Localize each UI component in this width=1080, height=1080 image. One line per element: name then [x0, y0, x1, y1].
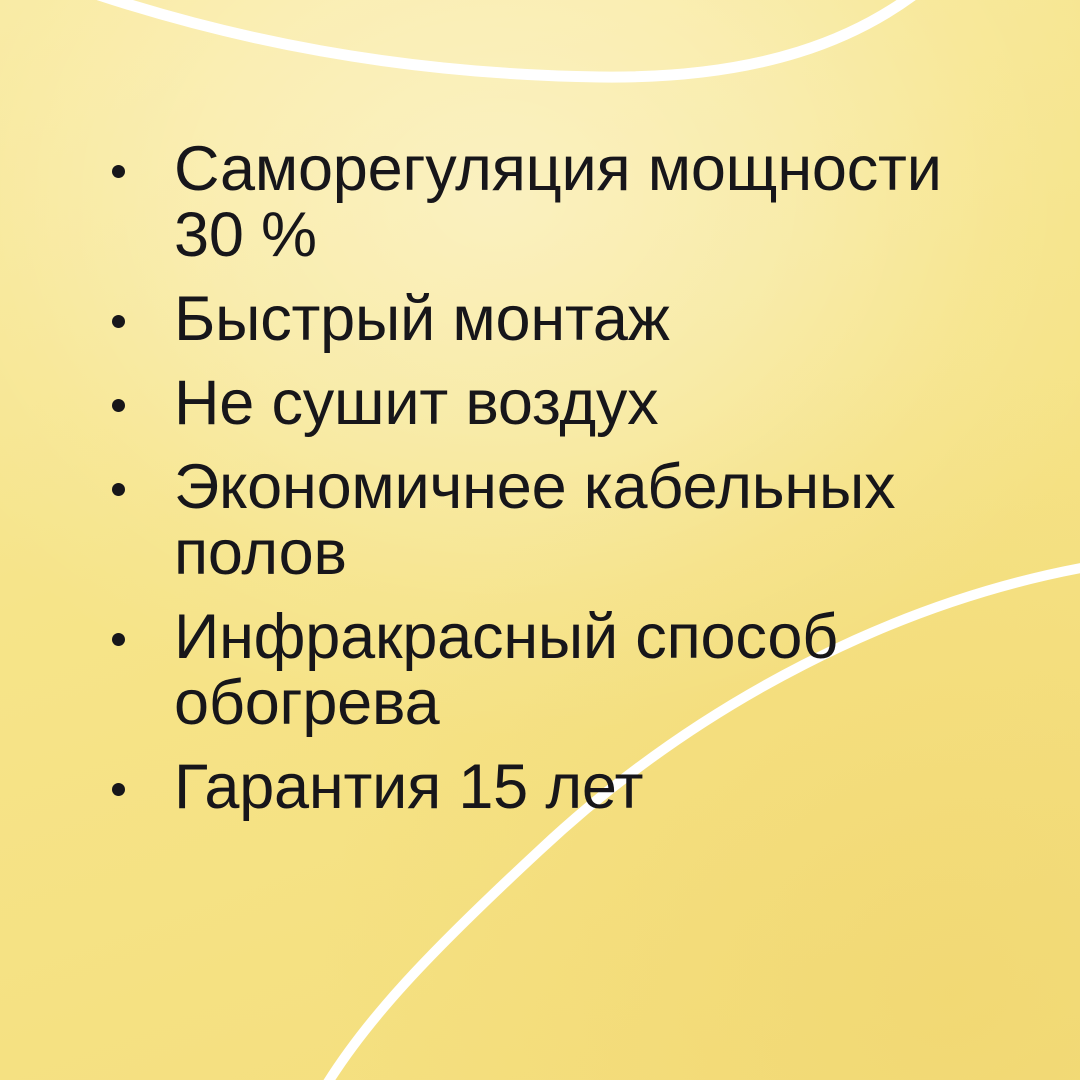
bullet-dot-icon	[112, 399, 125, 412]
bullet-dot-icon	[112, 483, 125, 496]
list-item: Саморегуляция мощности 30 %	[0, 136, 1080, 268]
bullet-dot-icon	[112, 165, 125, 178]
bullet-dot-icon	[112, 315, 125, 328]
white-wave-top	[78, 0, 930, 77]
bullet-text: Саморегуляция мощности 30 %	[174, 136, 974, 268]
bullet-dot-icon	[112, 783, 125, 796]
list-item: Быстрый монтаж	[0, 286, 1080, 352]
bullet-text: Инфракрасный способ обогрева	[174, 604, 974, 736]
bullet-text: Быстрый монтаж	[174, 286, 974, 352]
list-item: Гарантия 15 лет	[0, 754, 1080, 820]
bullet-text: Не сушит воздух	[174, 370, 974, 436]
list-item: Не сушит воздух	[0, 370, 1080, 436]
slide-canvas: Саморегуляция мощности 30 % Быстрый монт…	[0, 0, 1080, 1080]
list-item: Инфракрасный способ обогрева	[0, 604, 1080, 736]
bullet-text: Гарантия 15 лет	[174, 754, 974, 820]
list-item: Экономичнее кабельных полов	[0, 454, 1080, 586]
bullet-text: Экономичнее кабельных полов	[174, 454, 974, 586]
bullet-dot-icon	[112, 633, 125, 646]
feature-bullet-list: Саморегуляция мощности 30 % Быстрый монт…	[0, 136, 1080, 838]
